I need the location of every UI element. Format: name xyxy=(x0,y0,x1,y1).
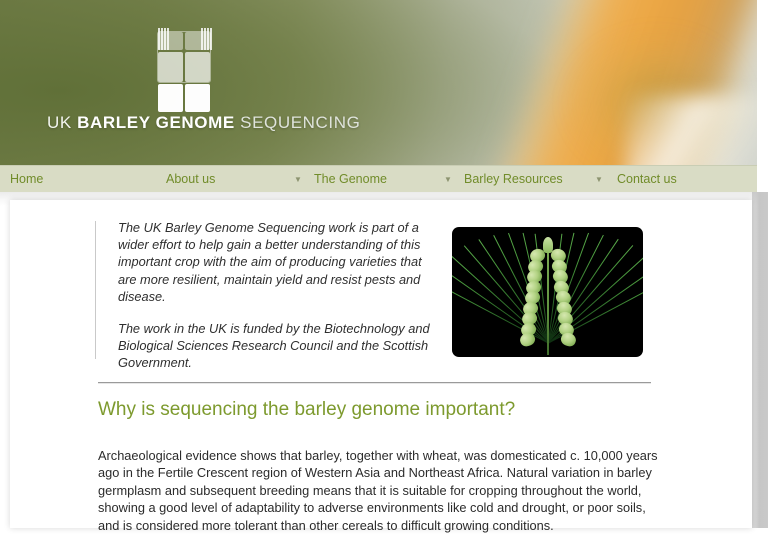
page-root: UK BARLEY GENOME SEQUENCING HomeAbout us… xyxy=(0,0,768,528)
barley-ear-photo xyxy=(452,227,643,357)
site-banner: UK BARLEY GENOME SEQUENCING xyxy=(0,0,757,165)
page-right-edge-shadow xyxy=(752,192,768,528)
intro-text: The UK Barley Genome Sequencing work is … xyxy=(118,219,443,372)
nav-item-contact-us[interactable]: Contact us xyxy=(617,166,677,193)
nav-item-the-genome[interactable]: The Genome xyxy=(314,166,387,193)
intro-paragraph-2: The work in the UK is funded by the Biot… xyxy=(118,320,443,372)
section-body-text: Archaeological evidence shows that barle… xyxy=(98,447,666,534)
site-title-main: BARLEY GENOME xyxy=(77,113,235,132)
barley-ear-tip xyxy=(543,237,553,253)
barley-genome-logo-icon[interactable] xyxy=(150,28,218,112)
main-navigation: HomeAbout us▼The Genome▼Barley Resources… xyxy=(0,165,757,193)
nav-item-barley-resources[interactable]: Barley Resources xyxy=(464,166,563,193)
section-divider xyxy=(98,382,651,384)
site-title-prefix: UK xyxy=(47,113,77,132)
barley-stem xyxy=(547,243,549,355)
banner-grain-highlight xyxy=(625,96,757,165)
logo-frame-outline xyxy=(157,31,211,83)
nav-caret-4[interactable]: ▼ xyxy=(595,166,603,193)
nav-item-about-us[interactable]: About us xyxy=(166,166,215,193)
intro-left-rule xyxy=(95,221,96,359)
nav-caret-3[interactable]: ▼ xyxy=(444,166,452,193)
logo-tile-bottom-left xyxy=(158,84,183,112)
nav-item-home[interactable]: Home xyxy=(10,166,43,193)
intro-paragraph-1: The UK Barley Genome Sequencing work is … xyxy=(118,219,443,305)
site-title-suffix: SEQUENCING xyxy=(235,113,361,132)
site-title: UK BARLEY GENOME SEQUENCING xyxy=(47,113,360,133)
navigation-items-container: HomeAbout us▼The Genome▼Barley Resources… xyxy=(0,166,757,193)
barley-ear xyxy=(526,241,570,345)
section-heading: Why is sequencing the barley genome impo… xyxy=(98,399,515,421)
nav-caret-2[interactable]: ▼ xyxy=(294,166,302,193)
logo-tile-bottom-right xyxy=(185,84,210,112)
